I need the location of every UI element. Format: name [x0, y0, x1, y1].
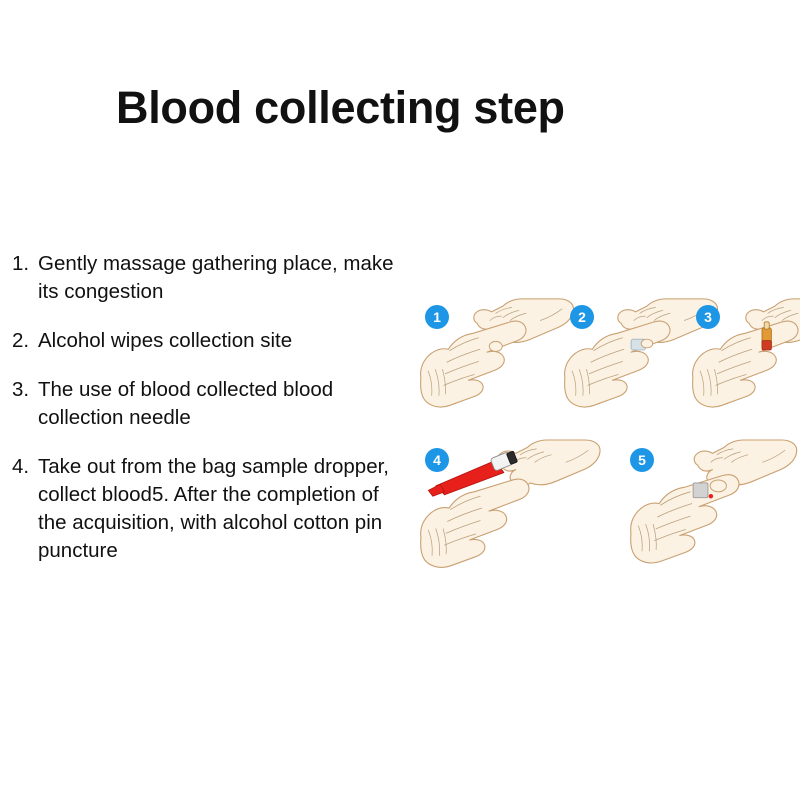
panel-badge-2: 2 [570, 305, 594, 329]
list-item: 2. Alcohol wipes collection site [12, 327, 412, 355]
step-text: Gently massage gathering place, make its… [38, 250, 412, 306]
panel-badge-4: 4 [425, 448, 449, 472]
panel-5-artwork [631, 440, 797, 563]
list-item: 4. Take out from the bag sample dropper,… [12, 453, 412, 565]
steps-list: 1. Gently massage gathering place, make … [12, 250, 412, 565]
list-item: 1. Gently massage gathering place, make … [12, 250, 412, 306]
step-text: Take out from the bag sample dropper, co… [38, 453, 412, 565]
panel-badge-1: 1 [425, 305, 449, 329]
step-number: 3. [12, 376, 29, 404]
illustration-grid: 1 2 3 4 5 [412, 288, 800, 580]
badge-number: 3 [696, 305, 720, 329]
panel-badge-3: 3 [696, 305, 720, 329]
illustration-artwork [412, 288, 800, 580]
step-text: Alcohol wipes collection site [38, 327, 412, 355]
badge-number: 1 [425, 305, 449, 329]
step-number: 2. [12, 327, 29, 355]
badge-number: 5 [630, 448, 654, 472]
step-text: The use of blood collected blood collect… [38, 376, 412, 432]
page-title: Blood collecting step [116, 82, 565, 134]
panel-badge-5: 5 [630, 448, 654, 472]
badge-number: 2 [570, 305, 594, 329]
step-number: 1. [12, 250, 29, 278]
step-number: 4. [12, 453, 29, 481]
list-item: 3. The use of blood collected blood coll… [12, 376, 412, 432]
badge-number: 4 [425, 448, 449, 472]
